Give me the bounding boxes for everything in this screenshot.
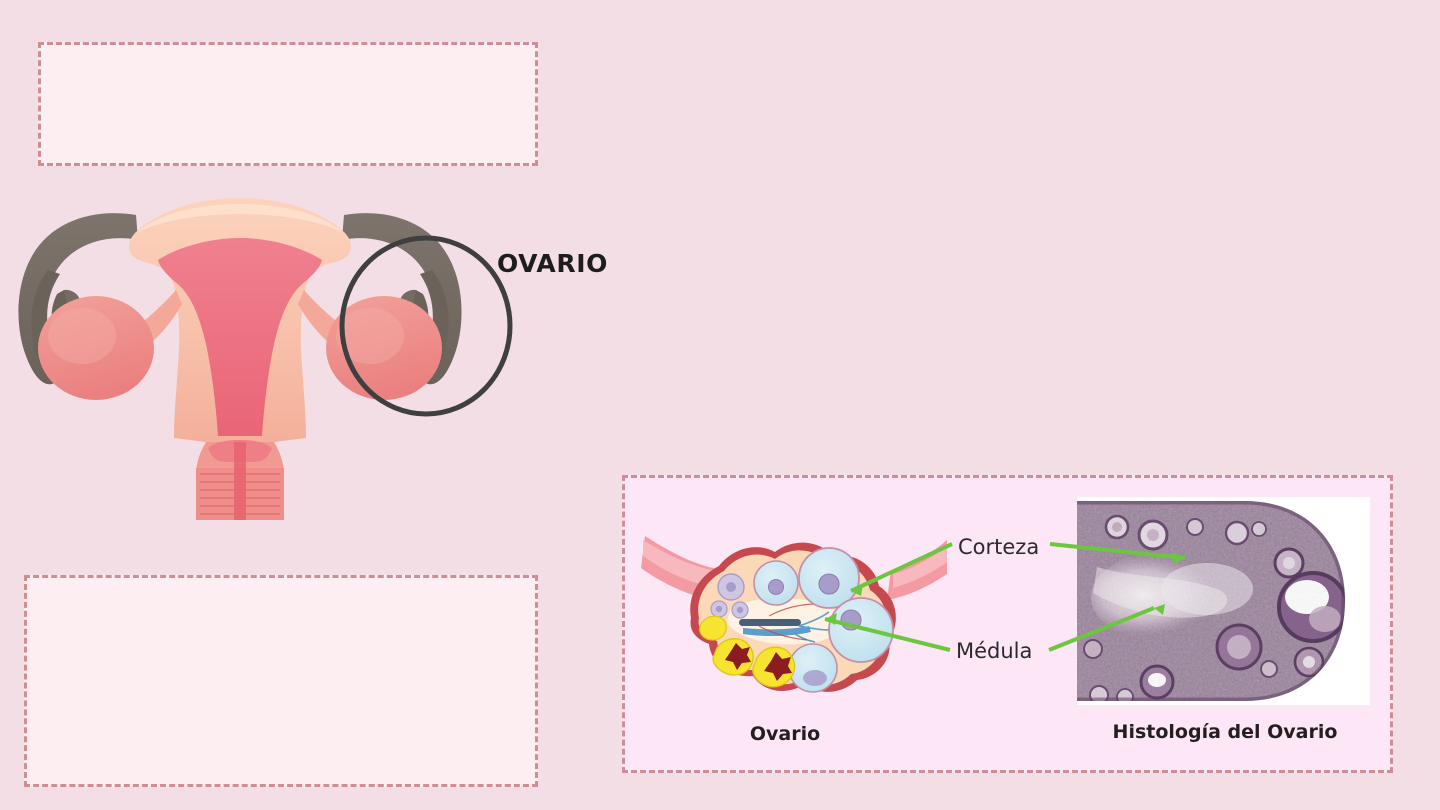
ovary-histology-image — [1077, 497, 1370, 705]
uterus-anatomy-illustration — [0, 190, 620, 535]
label-medula: Médula — [956, 639, 1032, 663]
caption-ovario: Ovario — [625, 723, 945, 745]
ovary-cross-section-diagram — [639, 530, 949, 700]
ovario-callout-label: OVARIO — [497, 249, 608, 278]
text-placeholder-bottom-left[interactable] — [24, 575, 538, 787]
label-corteza: Corteza — [958, 535, 1039, 559]
caption-histologia: Histología del Ovario — [1065, 721, 1385, 743]
text-placeholder-top-left[interactable] — [38, 42, 538, 166]
ovary-left — [38, 296, 154, 400]
slide-canvas: OVARIO — [0, 0, 1440, 810]
ovary-detail-panel: Corteza Médula Ovario Histología del Ova… — [622, 475, 1393, 773]
cervix-vagina — [196, 440, 284, 520]
